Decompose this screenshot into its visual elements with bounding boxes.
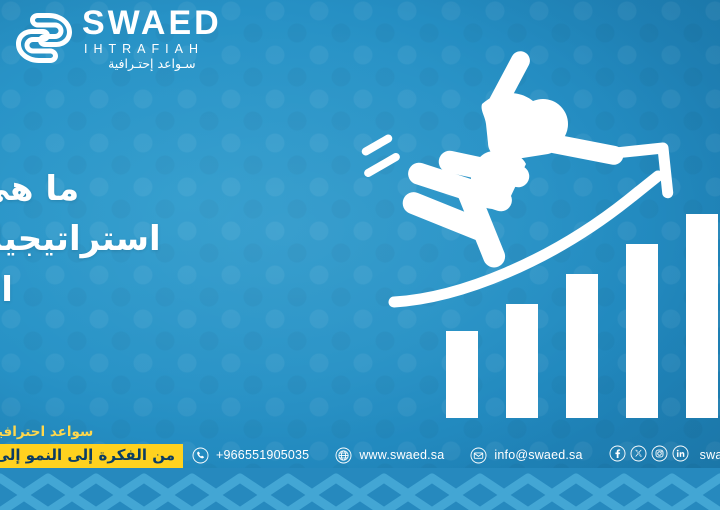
headline-line-3: الشركات — [0, 265, 286, 315]
tagline-highlight: من الفكرة إلى النمو إلى — [0, 444, 183, 469]
contact-phone[interactable]: +966551905035 — [192, 447, 309, 464]
envelope-icon — [470, 447, 487, 464]
headline-line-1: ما هي أفضل — [0, 164, 286, 214]
phone-number: +966551905035 — [216, 448, 309, 462]
chevron-band-decoration — [0, 468, 720, 510]
headline: ما هي أفضل استراتيجيات توسـ الشركات — [0, 164, 286, 315]
instagram-icon[interactable] — [651, 445, 668, 465]
contact-website[interactable]: www.swaed.sa — [335, 447, 444, 464]
contact-bar: +966551905035 www.swaed.sa — [192, 445, 720, 465]
person-leaping-over-growth-chart-illustration — [360, 48, 720, 418]
email-address: info@swaed.sa — [494, 448, 582, 462]
logo-subtitle: IHTRAFIAH — [82, 43, 222, 56]
logo-text-block: SWAED IHTRAFIAH سـواعد إحتـرافية — [82, 6, 222, 70]
website-url: www.swaed.sa — [359, 448, 444, 462]
linkedin-icon[interactable] — [672, 445, 689, 465]
brand-logo[interactable]: SWAED IHTRAFIAH سـواعد إحتـرافية — [13, 6, 222, 70]
logo-wordmark: SWAED — [82, 6, 222, 40]
facebook-icon[interactable] — [609, 445, 626, 465]
social-links-group: swae — [609, 445, 720, 465]
tagline-block: سواعد احترافية، من الفكرة إلى النمو إلى — [0, 424, 183, 469]
headline-line-2: استراتيجيات توسـ — [0, 214, 286, 264]
social-handle: swae — [700, 448, 720, 462]
globe-icon — [335, 447, 352, 464]
contact-email[interactable]: info@swaed.sa — [470, 447, 582, 464]
x-twitter-icon[interactable] — [630, 445, 647, 465]
tagline-line-1: سواعد احترافية، — [0, 424, 183, 440]
banner-canvas: SWAED IHTRAFIAH سـواعد إحتـرافية ما هي أ… — [0, 0, 720, 510]
phone-icon — [192, 447, 209, 464]
logo-arabic-name: سـواعد إحتـرافية — [82, 58, 222, 71]
swaed-chainlink-mark-icon — [13, 10, 75, 66]
